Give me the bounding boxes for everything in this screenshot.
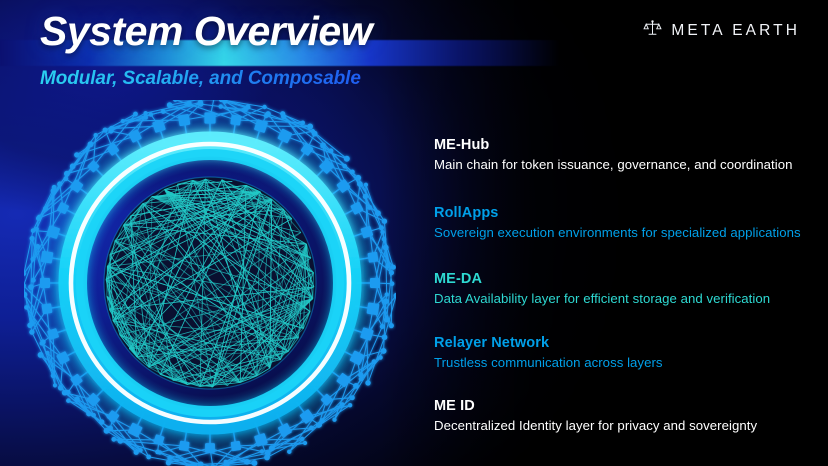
legend-item-relayer-network[interactable]: Relayer Network Trustless communication … [434,335,806,370]
page-subtitle: Modular, Scalable, and Composable [40,68,361,90]
legend-item-rollapps[interactable]: RollApps Sovereign execution environment… [434,205,806,240]
legend-item-me-da[interactable]: ME-DA Data Availability layer for effici… [434,271,806,306]
slide-root: System Overview Modular, Scalable, and C… [0,0,828,466]
legend-description: Data Availability layer for efficient st… [434,291,806,306]
legend-description: Sovereign execution environments for spe… [434,225,806,240]
legend-item-me-id[interactable]: ME ID Decentralized Identity layer for p… [434,398,806,433]
modular-network-ring-diagram [24,100,396,466]
legend-description: Trustless communication across layers [434,355,806,370]
legend-title: ME-DA [434,271,806,287]
legend-title: Relayer Network [434,335,806,351]
legend-title: ME-Hub [434,137,806,153]
balance-scale-icon [643,19,662,43]
page-title: System Overview [40,8,372,55]
legend-description: Decentralized Identity layer for privacy… [434,418,806,433]
brand-name: META EARTH [671,22,800,40]
brand-logo: META EARTH [643,19,800,43]
legend-item-me-hub[interactable]: ME-Hub Main chain for token issuance, go… [434,137,806,172]
legend-title: RollApps [434,205,806,221]
legend-description: Main chain for token issuance, governanc… [434,157,806,172]
legend-title: ME ID [434,398,806,414]
